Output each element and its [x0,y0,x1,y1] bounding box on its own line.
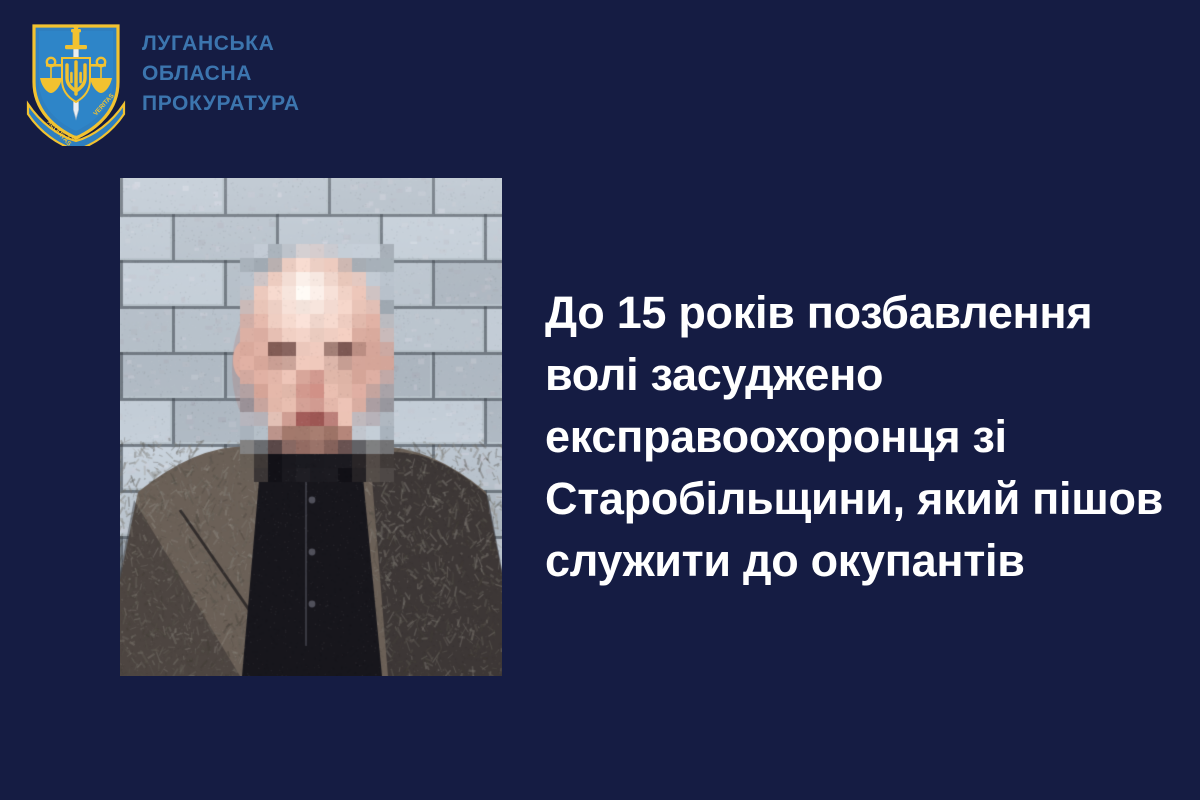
ribbon-word-center: LEX [68,135,81,142]
press-release-card: AEQUITAS LEX VERITAS ЛУГАНСЬКА ОБЛАСНА П… [0,0,1200,800]
headline-line-5: служити до окупантів [545,530,1170,592]
portrait-photo-canvas [120,178,502,676]
headline-line-4: Старобільщини, який пішов [545,468,1170,530]
headline-line-3: експравоохоронця зі [545,406,1170,468]
org-name-line-1: ЛУГАНСЬКА [142,30,300,58]
portrait-photo [120,178,502,676]
headline-line-1: До 15 років позбавлення [545,282,1170,344]
org-name-line-3: ПРОКУРАТУРА [142,90,300,118]
organisation-name: ЛУГАНСЬКА ОБЛАСНА ПРОКУРАТУРА [142,30,300,118]
org-name-line-2: ОБЛАСНА [142,60,300,88]
prosecutors-office-coat-of-arms-icon: AEQUITAS LEX VERITAS [24,18,128,146]
organisation-logo-lockup: AEQUITAS LEX VERITAS ЛУГАНСЬКА ОБЛАСНА П… [24,18,300,146]
headline-text: До 15 років позбавлення волі засуджено е… [545,282,1170,592]
headline-line-2: волі засуджено [545,344,1170,406]
